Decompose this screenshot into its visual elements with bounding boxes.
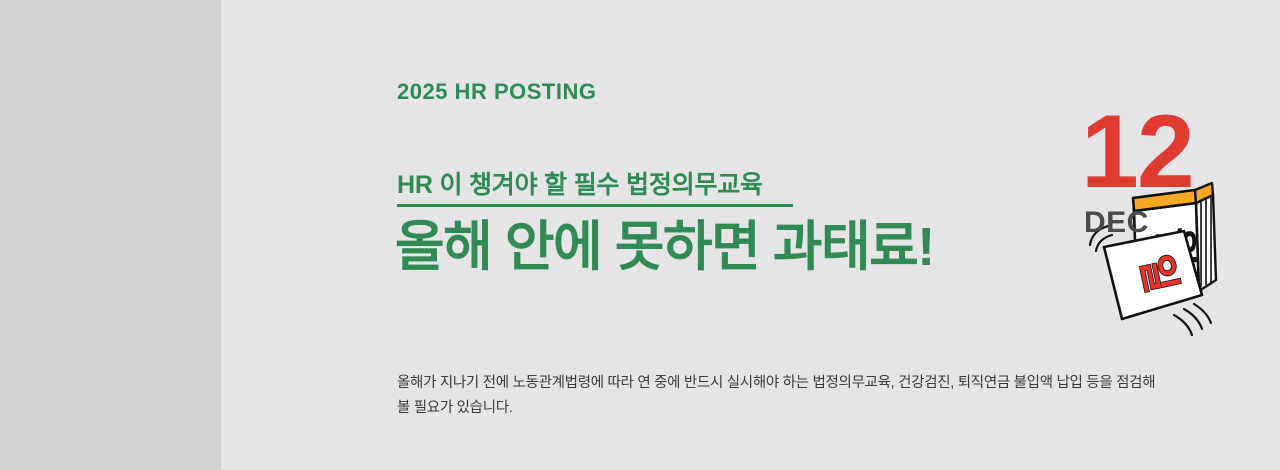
subtitle-text: HR 이 챙겨야 할 필수 법정의무교육: [397, 172, 793, 200]
subtitle-underline: [397, 204, 793, 207]
banner-content-area: 2025 HR POSTING HR 이 챙겨야 할 필수 법정의무교육 올해 …: [221, 0, 1280, 470]
motion-lines: [1174, 304, 1211, 335]
body-description: 올해가 지나기 전에 노동관계법령에 따라 연 중에 반드시 실시해야 하는 법…: [397, 371, 1167, 422]
month-number-12: 12: [1081, 100, 1193, 204]
subtitle-block: HR 이 챙겨야 할 필수 법정의무교육: [397, 172, 793, 207]
month-abbrev-dec: DEC: [1084, 208, 1149, 238]
eyebrow-label: 2025 HR POSTING: [397, 79, 596, 105]
torn-calendar-page: 일: [1104, 231, 1202, 319]
left-gutter-strip: [0, 0, 221, 470]
hr-posting-banner: 2025 HR POSTING HR 이 챙겨야 할 필수 법정의무교육 올해 …: [0, 0, 1280, 470]
december-calendar-illustration: 12 DEC 월: [1056, 95, 1271, 345]
headline-text: 올해 안에 못하면 과태료!: [395, 216, 934, 278]
